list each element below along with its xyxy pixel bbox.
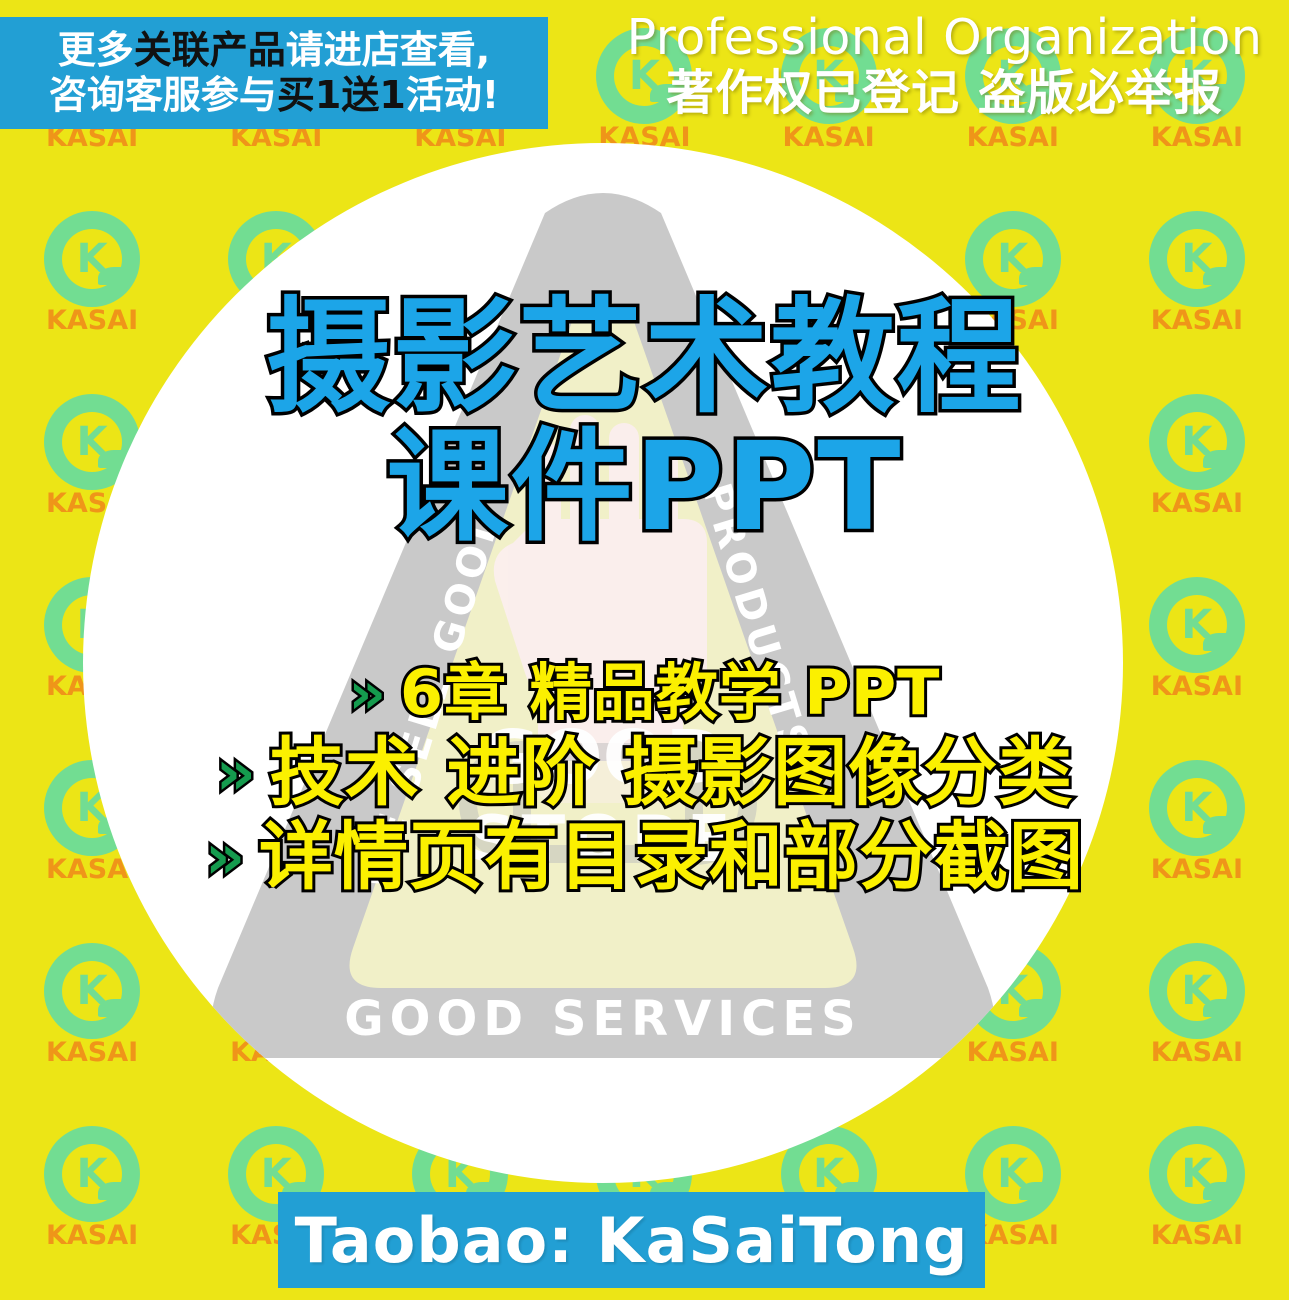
- watermark-leaf-icon: [835, 84, 861, 102]
- watermark-brand-label: KASAI: [1137, 122, 1257, 153]
- watermark-kasai: KKASAI: [1137, 205, 1257, 345]
- watermark-kasai: KKASAI: [584, 22, 704, 162]
- logo-inner-text-store: STORE: [469, 803, 736, 877]
- promo-banner-line-2: 咨询客服参与买1送1活动!: [49, 73, 499, 118]
- watermark-k-letter: K: [629, 56, 660, 96]
- logo-inner-text-good: GOOD: [479, 715, 727, 801]
- credentials-line-1: Professional Organization: [600, 12, 1289, 65]
- watermark-leaf-icon: [98, 1182, 124, 1200]
- watermark-ring: [1149, 577, 1245, 673]
- watermark-ring: [1149, 28, 1245, 124]
- watermark-k-letter: K: [1181, 788, 1212, 828]
- promo-banner-top: 更多关联产品请进店查看, 咨询客服参与买1送1活动!: [0, 17, 548, 129]
- promo-line2-seg1: 咨询客服参与: [49, 73, 277, 117]
- watermark-k-letter: K: [1181, 56, 1212, 96]
- watermark-leaf-icon: [650, 84, 676, 102]
- watermark-leaf-icon: [1203, 999, 1229, 1017]
- poster-canvas: KKASAIKKASAIKKASAIKKASAIKKASAIKKASAIKKAS…: [0, 0, 1289, 1300]
- watermark-brand-label: KASAI: [1137, 488, 1257, 519]
- watermark-brand-label: KASAI: [1137, 854, 1257, 885]
- watermark-leaf-icon: [1019, 1182, 1045, 1200]
- watermark-ring: [1149, 394, 1245, 490]
- watermark-leaf-icon: [1203, 1182, 1229, 1200]
- promo-line1-seg3: 请进店查看,: [286, 28, 490, 72]
- watermark-kasai: KKASAI: [1137, 388, 1257, 528]
- promo-line2-seg2: 买1送1: [277, 73, 406, 117]
- watermark-k-letter: K: [1181, 1154, 1212, 1194]
- watermark-kasai: KKASAI: [1137, 754, 1257, 894]
- watermark-kasai: KKASAI: [769, 22, 889, 162]
- credentials-block: Professional Organization 著作权已登记 盗版必举报: [600, 12, 1289, 120]
- watermark-leaf-icon: [1203, 816, 1229, 834]
- watermark-k-letter: K: [1181, 422, 1212, 462]
- watermark-ring: [1149, 760, 1245, 856]
- watermark-leaf-icon: [1203, 267, 1229, 285]
- watermark-brand-label: KASAI: [1137, 1037, 1257, 1068]
- watermark-leaf-icon: [1203, 633, 1229, 651]
- watermark-brand-label: KASAI: [32, 1220, 152, 1251]
- watermark-k-letter: K: [1181, 971, 1212, 1011]
- watermark-k-letter: K: [1181, 239, 1212, 279]
- emblem-circle: GOOD STORE WE SELL GOOD PRODUCTS GOOD SE…: [83, 143, 1123, 1183]
- watermark-ring: [1149, 943, 1245, 1039]
- promo-line1-seg1: 更多: [58, 28, 134, 72]
- watermark-kasai: KKASAI: [1137, 22, 1257, 162]
- promo-line1-seg2: 关联产品: [134, 28, 286, 72]
- good-store-logo: GOOD STORE WE SELL GOOD PRODUCTS GOOD SE…: [83, 143, 1123, 1183]
- promo-banner-line-1: 更多关联产品请进店查看,: [58, 28, 490, 73]
- watermark-brand-label: KASAI: [1137, 305, 1257, 336]
- watermark-k-letter: K: [813, 56, 844, 96]
- watermark-ring: [596, 28, 692, 124]
- watermark-kasai: KKASAI: [1137, 1120, 1257, 1260]
- shop-banner-bottom: Taobao: KaSaiTong: [278, 1192, 985, 1288]
- watermark-kasai: KKASAI: [1137, 937, 1257, 1077]
- watermark-leaf-icon: [1203, 450, 1229, 468]
- watermark-ring: [781, 28, 877, 124]
- shop-name-label: Taobao: KaSaiTong: [295, 1204, 969, 1277]
- watermark-kasai: KKASAI: [953, 22, 1073, 162]
- watermark-leaf-icon: [1203, 84, 1229, 102]
- credentials-line-2: 著作权已登记 盗版必举报: [600, 67, 1289, 120]
- watermark-k-letter: K: [997, 56, 1028, 96]
- promo-line2-seg3: 活动!: [406, 73, 499, 117]
- watermark-ring: [1149, 211, 1245, 307]
- watermark-brand-label: KASAI: [1137, 671, 1257, 702]
- watermark-brand-label: KASAI: [1137, 1220, 1257, 1251]
- watermark-kasai: KKASAI: [1137, 571, 1257, 711]
- watermark-ring: [1149, 1126, 1245, 1222]
- watermark-k-letter: K: [1181, 605, 1212, 645]
- watermark-ring: [965, 28, 1061, 124]
- logo-bottom-text: GOOD SERVICES: [344, 991, 861, 1047]
- watermark-leaf-icon: [1019, 84, 1045, 102]
